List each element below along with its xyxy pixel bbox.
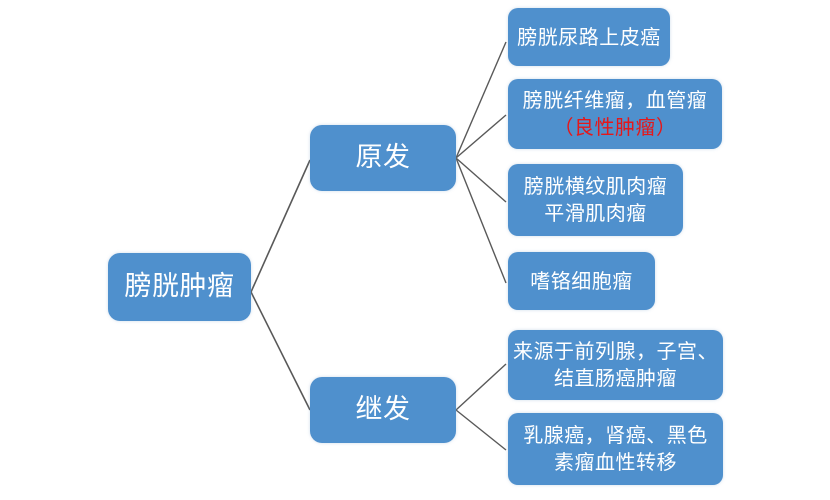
node-leaf-line: 膀胱横纹肌肉瘤 (524, 173, 668, 200)
diagram-canvas: 膀胱肿瘤 原发 继发 膀胱尿路上皮癌 膀胱纤维瘤，血管瘤 （良性肿瘤） 膀胱横纹… (0, 0, 830, 500)
node-leaf-line: 膀胱尿路上皮癌 (517, 24, 661, 51)
connector-secondary-to-leaf-5 (456, 364, 506, 410)
node-leaf-line: 来源于前列腺，子宫、 (513, 338, 718, 365)
node-leaf-breast-renal-melanoma-metastasis[interactable]: 乳腺癌，肾癌、黑色 素瘤血性转移 (508, 413, 723, 485)
node-branch-secondary-label: 继发 (356, 392, 411, 428)
node-branch-primary-label: 原发 (356, 140, 411, 176)
node-leaf-line: 素瘤血性转移 (554, 449, 677, 476)
node-leaf-pheochromocytoma[interactable]: 嗜铬细胞瘤 (508, 252, 655, 310)
node-branch-primary[interactable]: 原发 (310, 125, 456, 191)
node-leaf-line: 嗜铬细胞瘤 (530, 268, 633, 295)
node-leaf-rhabdomyosarcoma[interactable]: 膀胱横纹肌肉瘤 平滑肌肉瘤 (508, 164, 683, 236)
connector-root-to-primary (251, 160, 310, 292)
node-branch-secondary[interactable]: 继发 (310, 377, 456, 443)
connector-primary-to-leaf-3 (456, 158, 506, 202)
node-leaf-bladder-fibroma-hemangioma[interactable]: 膀胱纤维瘤，血管瘤 （良性肿瘤） (508, 79, 722, 149)
node-leaf-line: 乳腺癌，肾癌、黑色 (523, 422, 708, 449)
connector-secondary-to-leaf-6 (456, 410, 506, 450)
connector-root-to-secondary (251, 292, 310, 410)
node-leaf-line-benign-note: （良性肿瘤） (554, 114, 677, 141)
node-leaf-line: 平滑肌肉瘤 (544, 200, 647, 227)
connector-primary-to-leaf-1 (456, 42, 506, 158)
node-leaf-line: 结直肠癌肿瘤 (554, 365, 677, 392)
connector-primary-to-leaf-4 (456, 158, 506, 283)
node-leaf-line: 膀胱纤维瘤，血管瘤 (523, 87, 708, 114)
node-root-label: 膀胱肿瘤 (125, 269, 235, 305)
node-root[interactable]: 膀胱肿瘤 (108, 253, 251, 321)
connector-primary-to-leaf-2 (456, 115, 506, 158)
node-leaf-bladder-urothelial-carcinoma[interactable]: 膀胱尿路上皮癌 (508, 8, 670, 66)
node-leaf-from-prostate-uterus-colorectal[interactable]: 来源于前列腺，子宫、 结直肠癌肿瘤 (508, 330, 723, 400)
